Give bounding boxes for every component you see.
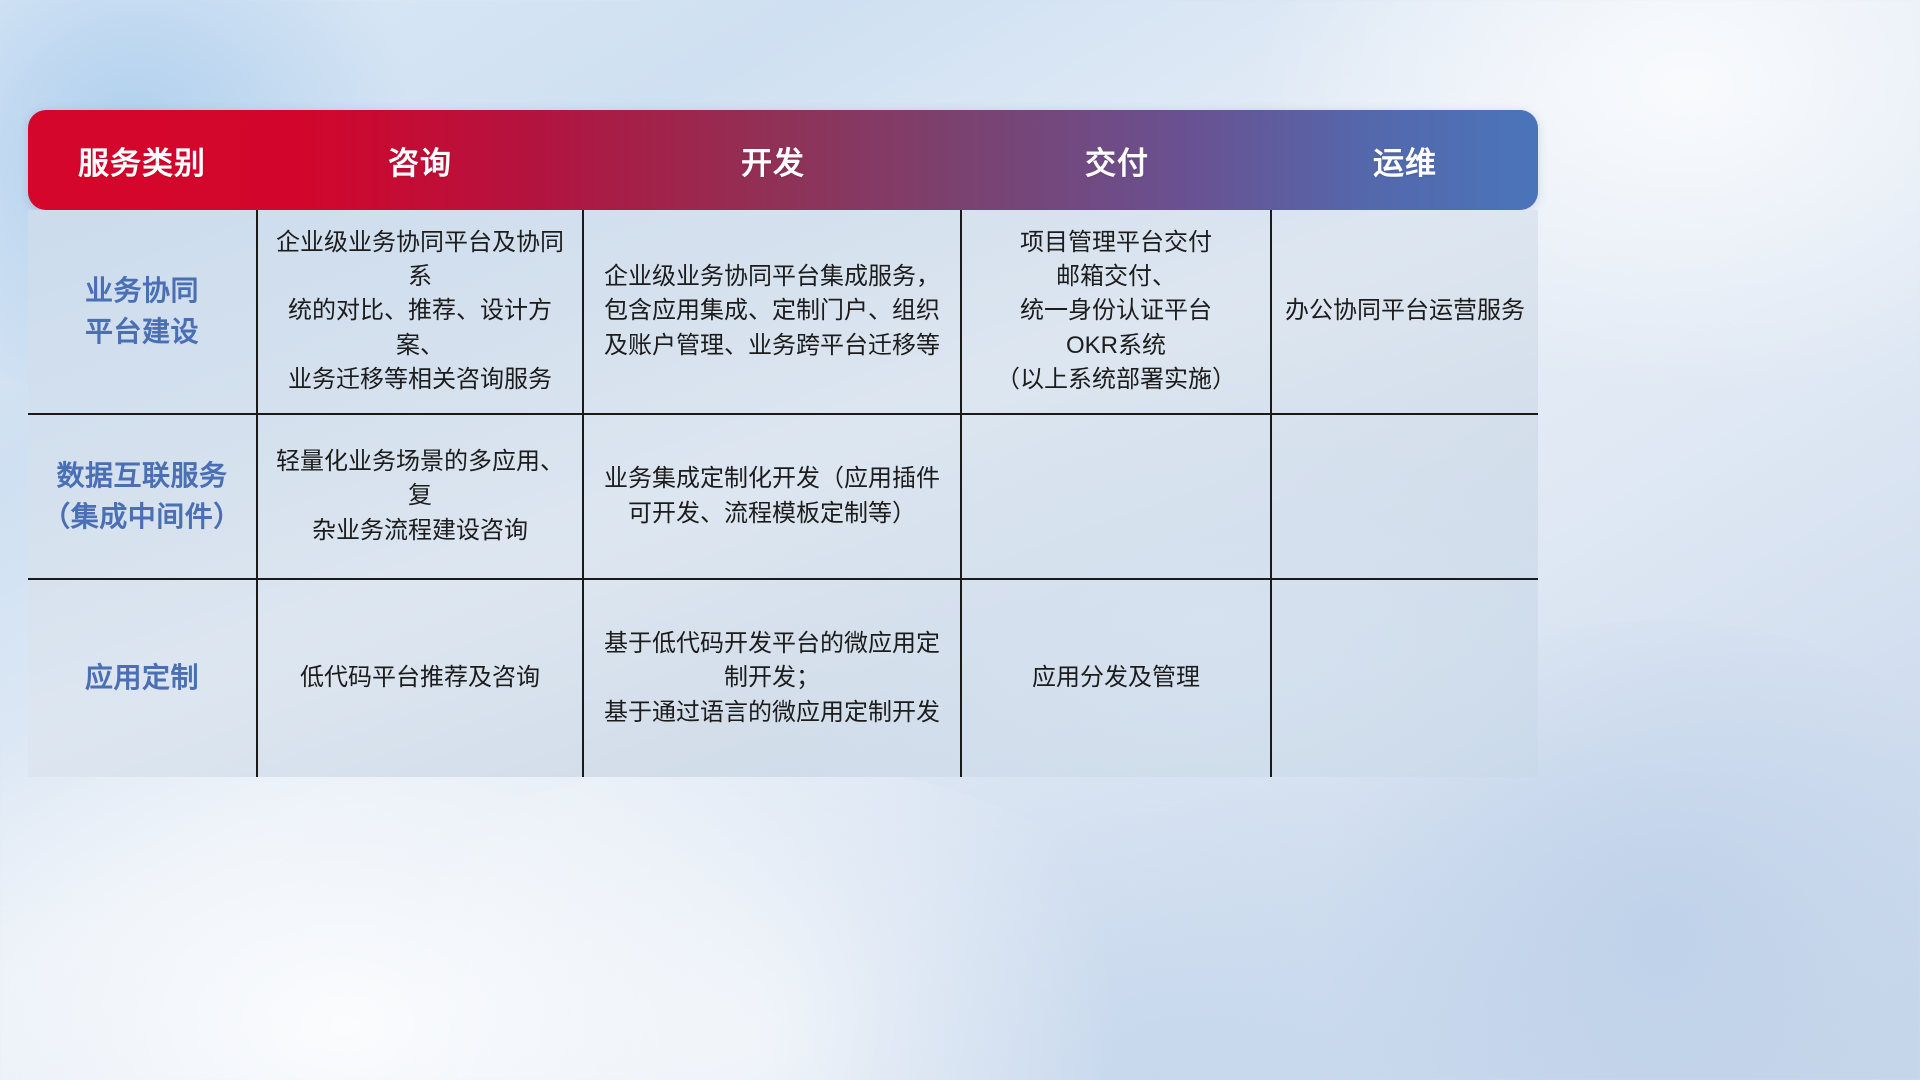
cell-consulting: 低代码平台推荐及咨询 bbox=[256, 580, 584, 777]
table-row: 数据互联服务 （集成中间件） 轻量化业务场景的多应用、复 杂业务流程建设咨询 业… bbox=[28, 415, 1538, 580]
cell-development: 业务集成定制化开发（应用插件 可开发、流程模板定制等） bbox=[584, 415, 962, 578]
column-header-operations: 运维 bbox=[1272, 110, 1538, 210]
row-category-label: 应用定制 bbox=[28, 580, 256, 777]
cell-delivery: 项目管理平台交付 邮箱交付、 统一身份认证平台 OKR系统 （以上系统部署实施） bbox=[962, 210, 1272, 413]
cell-operations bbox=[1272, 580, 1538, 777]
cell-operations: 办公协同平台运营服务 bbox=[1272, 210, 1538, 413]
table-row: 应用定制 低代码平台推荐及咨询 基于低代码开发平台的微应用定 制开发； 基于通过… bbox=[28, 580, 1538, 777]
cell-delivery bbox=[962, 415, 1272, 578]
row-category-label: 业务协同 平台建设 bbox=[28, 210, 256, 413]
cell-consulting: 企业级业务协同平台及协同系 统的对比、推荐、设计方案、 业务迁移等相关咨询服务 bbox=[256, 210, 584, 413]
column-header-development: 开发 bbox=[584, 110, 962, 210]
column-header-consulting: 咨询 bbox=[256, 110, 584, 210]
cell-operations bbox=[1272, 415, 1538, 578]
cell-consulting: 轻量化业务场景的多应用、复 杂业务流程建设咨询 bbox=[256, 415, 584, 578]
service-matrix-table: 服务类别 咨询 开发 交付 运维 业务协同 平台建设 企业级业务协同平台及协同系… bbox=[28, 110, 1538, 777]
cell-delivery: 应用分发及管理 bbox=[962, 580, 1272, 777]
table-row: 业务协同 平台建设 企业级业务协同平台及协同系 统的对比、推荐、设计方案、 业务… bbox=[28, 210, 1538, 415]
table-header-row: 服务类别 咨询 开发 交付 运维 bbox=[28, 110, 1538, 210]
table-body: 业务协同 平台建设 企业级业务协同平台及协同系 统的对比、推荐、设计方案、 业务… bbox=[28, 210, 1538, 777]
cell-development: 企业级业务协同平台集成服务， 包含应用集成、定制门户、组织 及账户管理、业务跨平… bbox=[584, 210, 962, 413]
column-header-delivery: 交付 bbox=[962, 110, 1272, 210]
column-header-service-category: 服务类别 bbox=[28, 110, 256, 210]
row-category-label: 数据互联服务 （集成中间件） bbox=[28, 415, 256, 578]
background-glow-bottom-center bbox=[300, 760, 1200, 1080]
cell-development: 基于低代码开发平台的微应用定 制开发； 基于通过语言的微应用定制开发 bbox=[584, 580, 962, 777]
